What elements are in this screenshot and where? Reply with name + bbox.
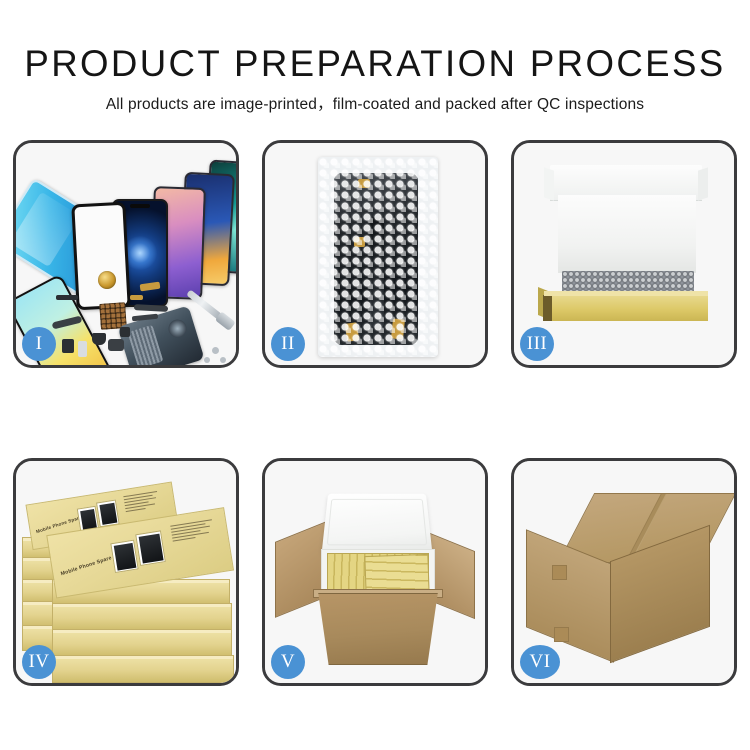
- step-badge-1: I: [22, 327, 56, 361]
- step-badge-5: V: [271, 645, 305, 679]
- spare-part: [92, 333, 106, 345]
- carton-tape-mark: [552, 565, 567, 580]
- bubble-wrap-bag: [318, 157, 438, 357]
- process-step-grid: I II III: [13, 140, 737, 686]
- panel-inner-box: III: [511, 140, 737, 368]
- gold-coil-part: [98, 271, 116, 289]
- step-badge-4: IV: [22, 645, 56, 679]
- panel-sealed-carton: VI: [511, 458, 737, 686]
- bubble-texture-highlight: [318, 157, 438, 357]
- tempered-glass-protector: [71, 202, 130, 311]
- carton-body: [313, 593, 443, 665]
- spare-part: [78, 341, 87, 357]
- page-header: PRODUCT PREPARATION PROCESS All products…: [0, 0, 750, 115]
- spare-part: [120, 327, 130, 337]
- kraft-box-front: [544, 295, 708, 321]
- spare-part: [130, 295, 143, 300]
- spare-part: [212, 347, 219, 354]
- screwdriver-tool: [186, 289, 222, 319]
- step-badge-2: II: [271, 327, 305, 361]
- box-label-image: [110, 540, 138, 573]
- carton-tape-mark: [554, 627, 569, 642]
- box-label-image: [135, 530, 166, 566]
- spare-part: [108, 339, 124, 351]
- spare-part: [204, 357, 210, 363]
- page-title: PRODUCT PREPARATION PROCESS: [4, 0, 747, 84]
- panel-boxes-stacked: Mobile Phone Spare Parts Mobile Pho: [13, 458, 239, 686]
- foam-sheet: [558, 195, 696, 273]
- spare-part: [220, 357, 226, 363]
- spare-part: [134, 304, 168, 312]
- spare-part: [56, 295, 78, 300]
- step-badge-3: III: [520, 327, 554, 361]
- panel-bubble-wrap: II: [262, 140, 488, 368]
- panel-carton-packing: V: [262, 458, 488, 686]
- spare-part: [62, 339, 74, 353]
- phone-notch: [130, 204, 150, 208]
- panel-products: I: [13, 140, 239, 368]
- step-badge-6: VI: [520, 645, 560, 679]
- phone-midframe: [117, 305, 204, 368]
- foam-lid: [322, 494, 433, 554]
- page-subtitle: All products are image-printed，film-coat…: [0, 84, 750, 115]
